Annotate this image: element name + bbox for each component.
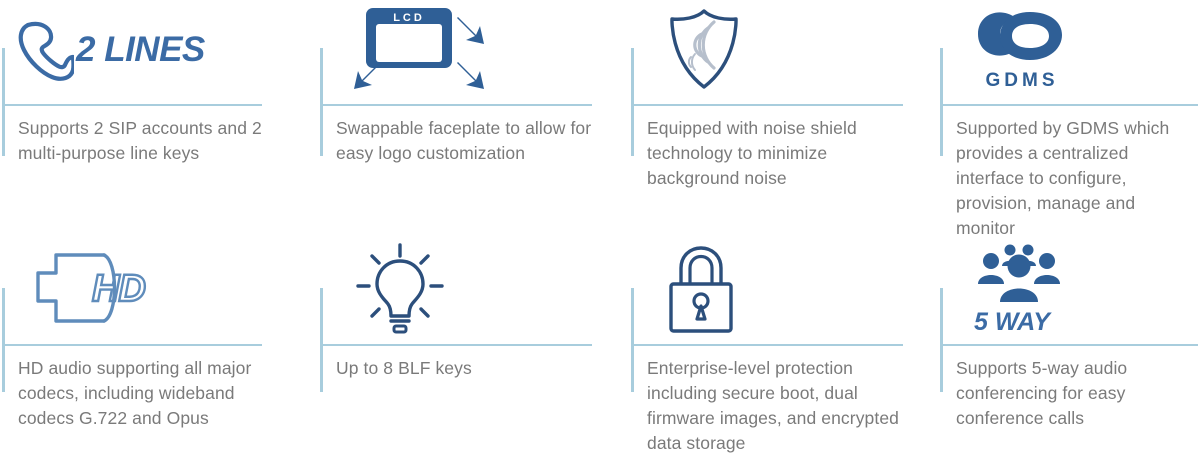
padlock-icon: [647, 240, 897, 340]
divider-horizontal-rule: [631, 344, 903, 346]
feature-grid: 2 LINES Supports 2 SIP accounts and 2 mu…: [0, 0, 1200, 462]
divider-horizontal-rule: [631, 104, 903, 106]
divider-horizontal-rule: [320, 104, 592, 106]
accent-vertical-rule: [320, 48, 323, 156]
feature-card-two-lines: 2 LINES Supports 2 SIP accounts and 2 mu…: [0, 0, 318, 240]
feature-description: Swappable faceplate to allow for easy lo…: [336, 116, 604, 166]
phone-handset-icon: 2 LINES: [18, 0, 268, 100]
divider-horizontal-rule: [2, 104, 262, 106]
noise-shield-icon: [647, 0, 897, 100]
divider-horizontal-rule: [2, 344, 262, 346]
feature-card-hd-audio: HD HD audio supporting all major codecs,…: [0, 240, 318, 462]
feature-description: Supported by GDMS which provides a centr…: [956, 116, 1198, 241]
people-group-icon: 5 WAY: [956, 240, 1200, 340]
divider-horizontal-rule: [320, 344, 592, 346]
icon-label-two-lines: 2 LINES: [76, 30, 205, 70]
accent-vertical-rule: [631, 48, 634, 156]
feature-card-five-way-conference: 5 WAY Supports 5-way audio conferencing …: [938, 240, 1200, 462]
feature-description: Enterprise-level protection including se…: [647, 356, 909, 456]
accent-vertical-rule: [2, 48, 5, 156]
feature-card-gdms: GDMS Supported by GDMS which provides a …: [938, 0, 1200, 240]
divider-horizontal-rule: [940, 344, 1198, 346]
icon-label-five-way: 5 WAY: [974, 308, 1050, 337]
feature-description: Supports 5-way audio conferencing for ea…: [956, 356, 1198, 431]
accent-vertical-rule: [940, 288, 943, 392]
feature-description: Equipped with noise shield technology to…: [647, 116, 909, 191]
feature-description: Up to 8 BLF keys: [336, 356, 604, 381]
accent-vertical-rule: [631, 288, 634, 392]
feature-card-blf-keys: Up to 8 BLF keys: [318, 240, 629, 462]
lcd-faceplate-icon: LCD: [336, 0, 586, 100]
feature-card-swappable-faceplate: LCD Swappable faceplate to allow for eas…: [318, 0, 629, 240]
feature-description: Supports 2 SIP accounts and 2 multi-purp…: [18, 116, 280, 166]
icon-label-gdms: GDMS: [986, 70, 1059, 92]
svg-text:LCD: LCD: [393, 12, 425, 24]
divider-horizontal-rule: [940, 104, 1198, 106]
lightbulb-icon: [336, 240, 586, 340]
accent-vertical-rule: [320, 288, 323, 392]
accent-vertical-rule: [940, 48, 943, 156]
feature-description: HD audio supporting all major codecs, in…: [18, 356, 280, 431]
feature-card-noise-shield: Equipped with noise shield technology to…: [629, 0, 938, 240]
svg-text:HD: HD: [92, 268, 145, 310]
gdms-logo-icon: GDMS: [956, 0, 1200, 100]
hd-speaker-icon: HD: [18, 240, 268, 340]
accent-vertical-rule: [2, 288, 5, 392]
feature-card-security: Enterprise-level protection including se…: [629, 240, 938, 462]
